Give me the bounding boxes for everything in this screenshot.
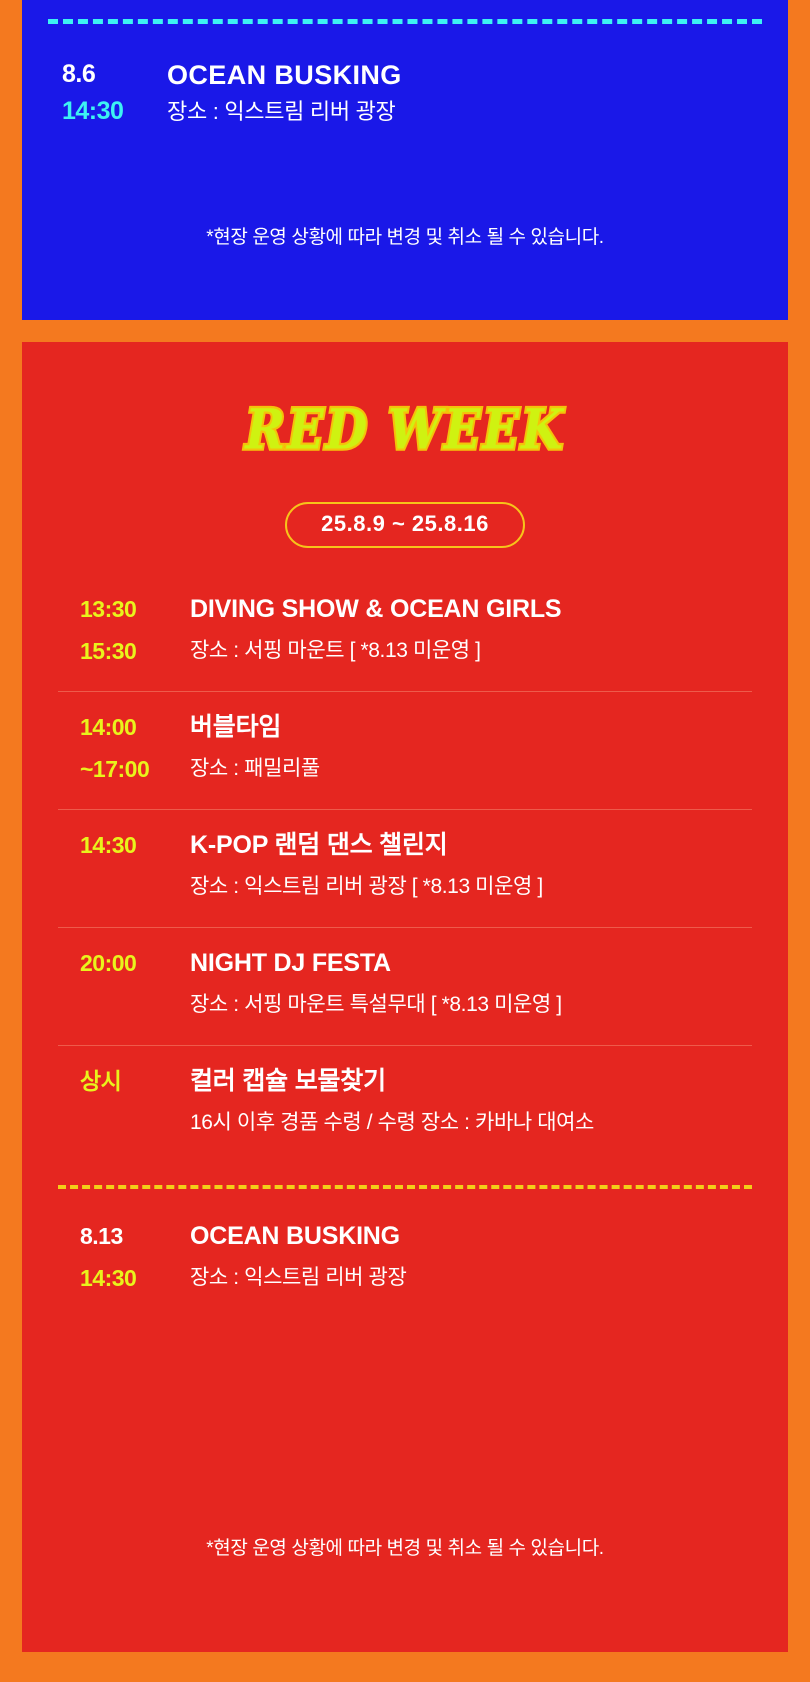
info-column: 컬러 캡슐 보물찾기 16시 이후 경품 수령 / 수령 장소 : 카바나 대여…	[190, 1062, 752, 1145]
blue-time-column: 8.6 14:30	[22, 57, 167, 131]
table-row: 20:00 NIGHT DJ FESTA 장소 : 서핑 마운트 특설무대 [ …	[58, 928, 752, 1046]
table-row: 14:30 K-POP 랜덤 댄스 챌린지 장소 : 익스트림 리버 광장 [ …	[58, 810, 752, 928]
blue-schedule-row: 8.6 14:30 OCEAN BUSKING 장소 : 익스트림 리버 광장	[22, 57, 788, 132]
row-title: 컬러 캡슐 보물찾기	[190, 1062, 752, 1101]
final-schedule-row: 8.13 14:30 OCEAN BUSKING 장소 : 익스트림 리버 광장	[58, 1189, 752, 1300]
table-row: 14:00 ~17:00 버블타임 장소 : 패밀리풀	[58, 692, 752, 810]
row-title: K-POP 랜덤 댄스 챌린지	[190, 826, 752, 865]
final-entry-title: OCEAN BUSKING	[190, 1217, 752, 1256]
date-badge-wrap: 25.8.9 ~ 25.8.16	[22, 502, 788, 548]
red-week-logo-text: RED WEEK	[245, 398, 565, 462]
final-entry-time: 14:30	[80, 1256, 190, 1300]
red-week-panel: RED WEEK 25.8.9 ~ 25.8.16 13:30 15:30 DI…	[22, 342, 788, 1652]
row-time-end: ~17:00	[80, 747, 190, 791]
blue-entry-date: 8.6	[62, 57, 167, 91]
blue-disclaimer-note: *현장 운영 상황에 따라 변경 및 취소 될 수 있습니다.	[22, 222, 788, 249]
row-time-start: 14:30	[80, 826, 190, 865]
cyan-dashed-divider	[48, 19, 762, 24]
schedule-list: 13:30 15:30 DIVING SHOW & OCEAN GIRLS 장소…	[58, 574, 752, 1300]
poster-page: 8.6 14:30 OCEAN BUSKING 장소 : 익스트림 리버 광장 …	[0, 0, 810, 1682]
row-time-start: 상시	[80, 1062, 190, 1101]
info-column: OCEAN BUSKING 장소 : 익스트림 리버 광장	[190, 1217, 752, 1300]
row-time-start: 13:30	[80, 590, 190, 629]
row-place: 장소 : 패밀리풀	[190, 747, 752, 791]
row-place: 장소 : 익스트림 리버 광장 [ *8.13 미운영 ]	[190, 865, 752, 909]
blue-schedule-panel: 8.6 14:30 OCEAN BUSKING 장소 : 익스트림 리버 광장 …	[22, 0, 788, 320]
table-row: 13:30 15:30 DIVING SHOW & OCEAN GIRLS 장소…	[58, 574, 752, 692]
row-title: DIVING SHOW & OCEAN GIRLS	[190, 590, 752, 629]
blue-entry-place: 장소 : 익스트림 리버 광장	[167, 92, 788, 132]
blue-entry-title: OCEAN BUSKING	[167, 58, 788, 92]
row-place: 장소 : 서핑 마운트 [ *8.13 미운영 ]	[190, 629, 752, 673]
row-place: 16시 이후 경품 수령 / 수령 장소 : 카바나 대여소	[190, 1101, 752, 1145]
final-entry-place: 장소 : 익스트림 리버 광장	[190, 1256, 752, 1300]
info-column: DIVING SHOW & OCEAN GIRLS 장소 : 서핑 마운트 [ …	[190, 590, 752, 673]
time-column: 상시	[58, 1062, 190, 1101]
time-column: 13:30 15:30	[58, 590, 190, 673]
time-column: 20:00	[58, 944, 190, 983]
info-column: K-POP 랜덤 댄스 챌린지 장소 : 익스트림 리버 광장 [ *8.13 …	[190, 826, 752, 909]
blue-entry-time: 14:30	[62, 91, 167, 131]
red-disclaimer-note: *현장 운영 상황에 따라 변경 및 취소 될 수 있습니다.	[22, 1533, 788, 1560]
row-time-end: 15:30	[80, 629, 190, 673]
row-place: 장소 : 서핑 마운트 특설무대 [ *8.13 미운영 ]	[190, 983, 752, 1027]
row-time-start: 14:00	[80, 708, 190, 747]
row-title: 버블타임	[190, 708, 752, 747]
time-column: 8.13 14:30	[58, 1217, 190, 1300]
time-column: 14:00 ~17:00	[58, 708, 190, 791]
final-entry-date: 8.13	[80, 1217, 190, 1256]
red-week-logo: RED WEEK	[22, 402, 788, 458]
blue-info-column: OCEAN BUSKING 장소 : 익스트림 리버 광장	[167, 57, 788, 132]
info-column: 버블타임 장소 : 패밀리풀	[190, 708, 752, 791]
time-column: 14:30	[58, 826, 190, 865]
row-title: NIGHT DJ FESTA	[190, 944, 752, 983]
row-time-start: 20:00	[80, 944, 190, 983]
table-row: 상시 컬러 캡슐 보물찾기 16시 이후 경품 수령 / 수령 장소 : 카바나…	[58, 1046, 752, 1163]
info-column: NIGHT DJ FESTA 장소 : 서핑 마운트 특설무대 [ *8.13 …	[190, 944, 752, 1027]
date-range-badge: 25.8.9 ~ 25.8.16	[285, 502, 525, 548]
